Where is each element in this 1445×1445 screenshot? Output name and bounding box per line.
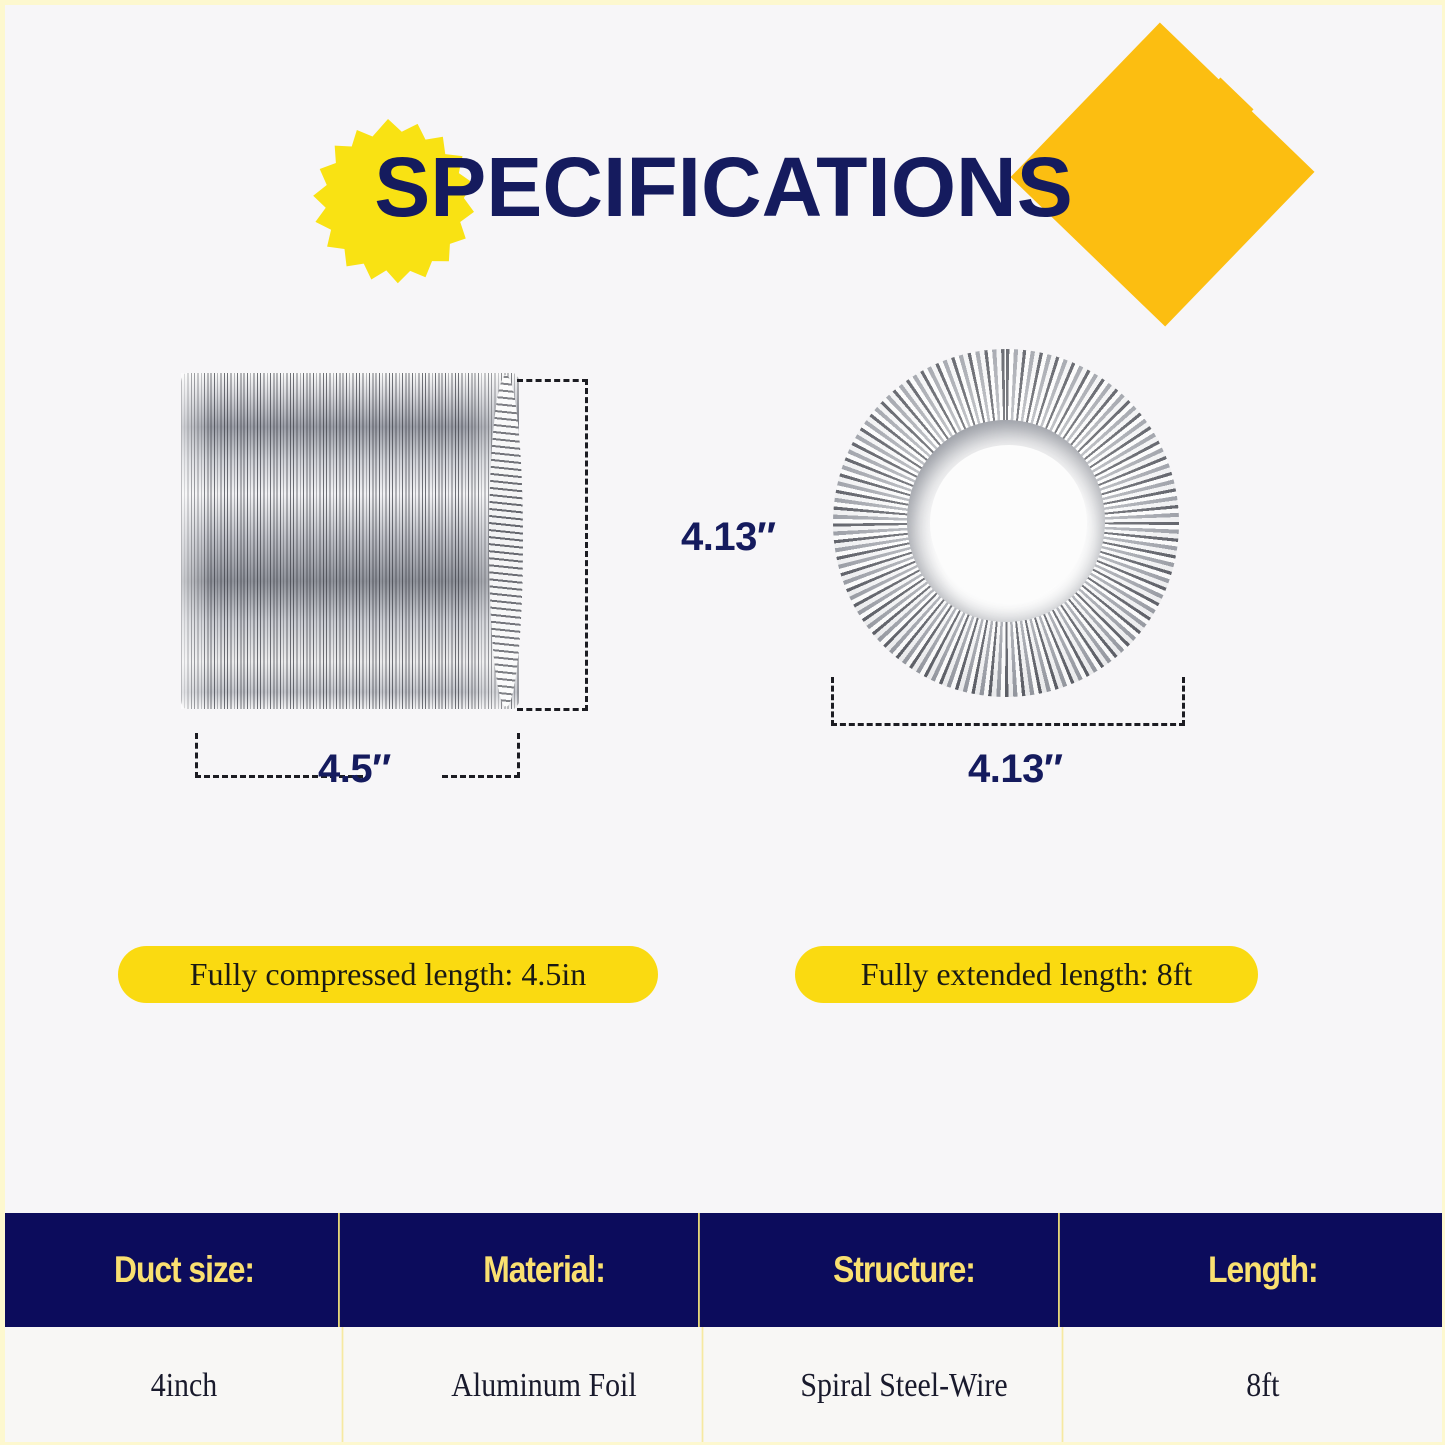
specification-infographic: SPECIFICATIONS 4.13″ 4.5″ 4.13″ Fully co… <box>0 0 1445 1445</box>
width-dimension-label: 4.5″ <box>318 747 391 792</box>
coil-body <box>181 373 519 709</box>
ring-bore <box>930 445 1087 602</box>
spec-value-length: 8ft <box>1106 1327 1421 1445</box>
duct-end-view-image <box>833 349 1179 697</box>
page-title: SPECIFICATIONS <box>5 145 1442 229</box>
spec-value-material: Aluminum Foil <box>386 1327 703 1445</box>
spec-value-structure: Spiral Steel-Wire <box>746 1327 1063 1445</box>
height-dimension-label: 4.13″ <box>681 515 776 560</box>
badge-extended-length: Fully extended length: 8ft <box>795 946 1258 1003</box>
spec-header-duct-size: Duct size: <box>30 1213 339 1327</box>
spec-table-row: 4inch Aluminum Foil Spiral Steel-Wire 8f… <box>5 1327 1442 1445</box>
height-dimension-bracket <box>517 379 588 711</box>
badge-compressed-length: Fully compressed length: 4.5in <box>118 946 658 1003</box>
spec-header-length: Length: <box>1109 1213 1417 1327</box>
diameter-dimension-label: 4.13″ <box>968 747 1063 792</box>
spec-table-header-row: Duct size: Material: Structure: Length: <box>5 1213 1442 1327</box>
diameter-dimension-bracket <box>831 677 1185 726</box>
compressed-duct-coil-image <box>181 373 519 709</box>
spec-header-material: Material: <box>390 1213 699 1327</box>
header-band: SPECIFICATIONS <box>5 5 1442 345</box>
spec-header-structure: Structure: <box>750 1213 1059 1327</box>
spec-table: Duct size: Material: Structure: Length: … <box>5 1213 1442 1445</box>
spec-value-duct-size: 4inch <box>27 1327 344 1445</box>
width-dimension-bracket-right <box>442 733 520 778</box>
